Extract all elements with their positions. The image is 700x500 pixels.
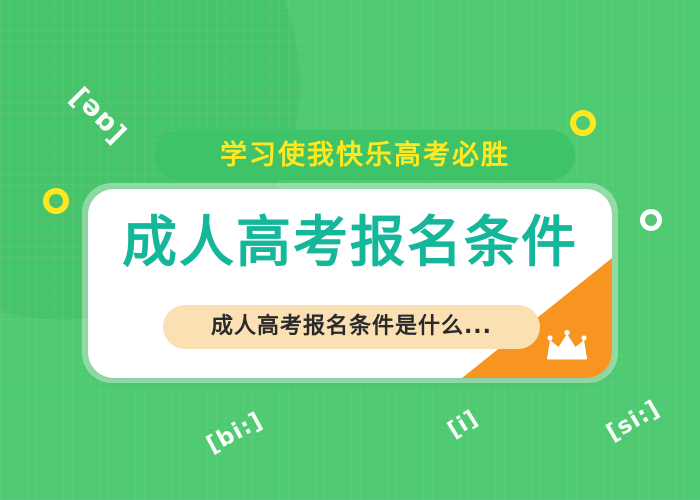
phonetic-si-label: [si:] xyxy=(602,396,664,447)
phonetic-bi-label: [bi:] xyxy=(202,408,267,459)
subtitle-pill: 成人高考报名条件是什么... xyxy=(163,305,540,349)
ring-yellow-left xyxy=(43,188,69,214)
main-card: 成人高考报名条件 成人高考报名条件是什么... xyxy=(88,189,612,378)
subtitle-text: 成人高考报名条件是什么... xyxy=(211,316,492,338)
slogan-banner-text: 学习使我快乐高考必胜 xyxy=(220,142,510,169)
page-title: 成人高考报名条件 xyxy=(88,215,612,270)
ring-yellow-top xyxy=(570,110,596,136)
phonetic-i-label: [i] xyxy=(444,406,483,443)
poster-canvas: [ɑe] [bi:] [i] [si:] 学习使我快乐高考必胜 成人高考报名条件… xyxy=(0,0,700,500)
slogan-banner: 学习使我快乐高考必胜 xyxy=(155,130,575,180)
crown-icon xyxy=(544,330,590,362)
ring-white-right xyxy=(640,209,662,231)
